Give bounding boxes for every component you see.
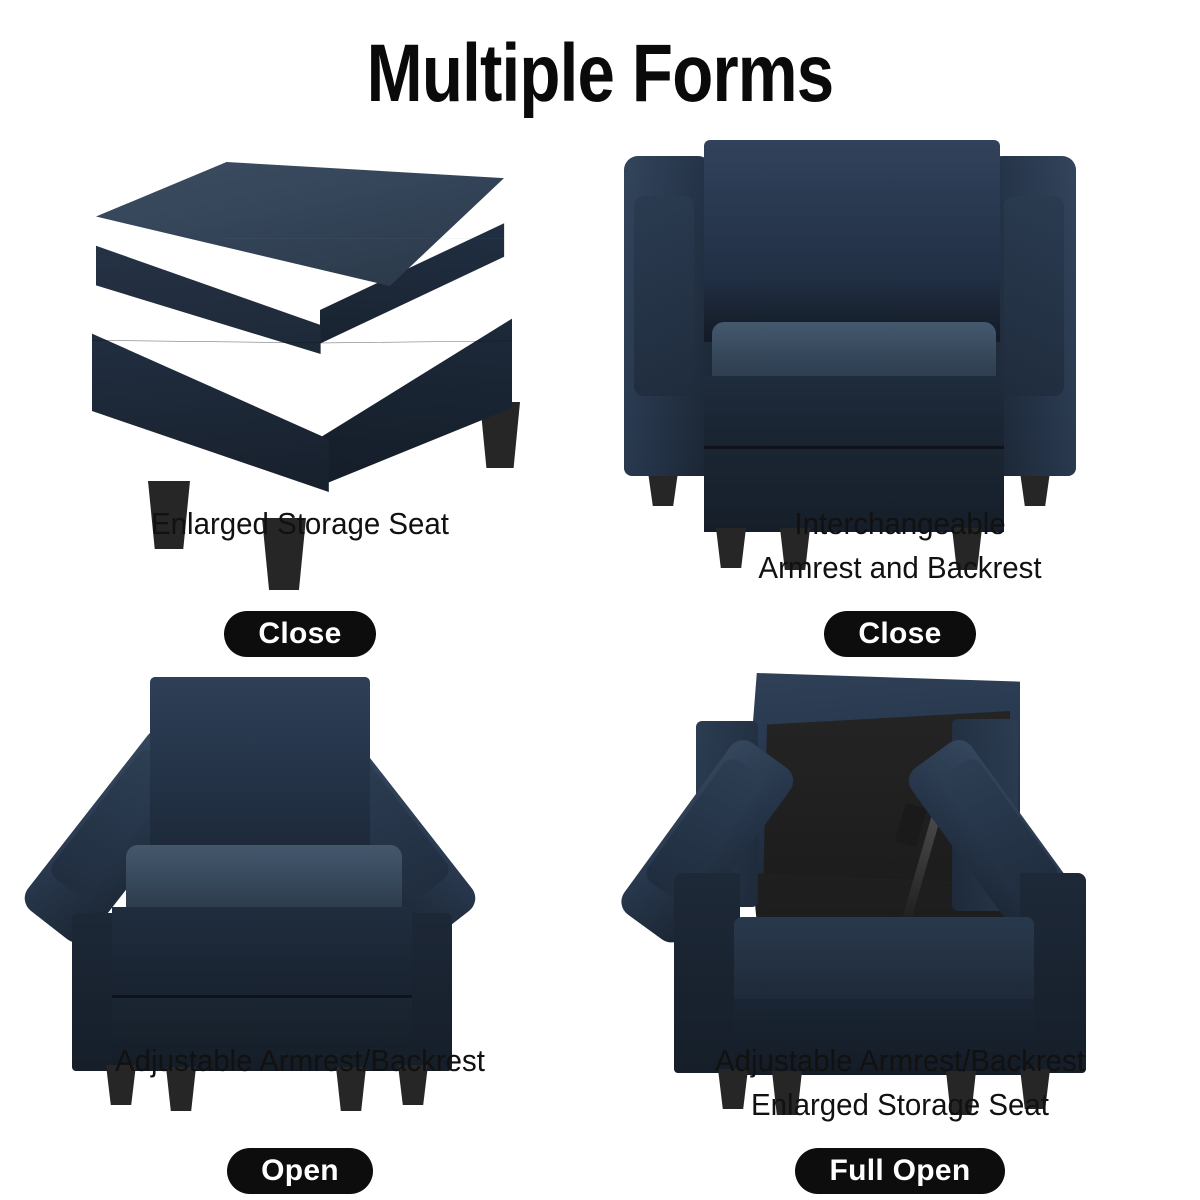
- feature-panel-adjustable-armrest-backrest: Adjustable Armrest/Backrest Open: [0, 663, 600, 1200]
- feature-panel-interchangeable-armrest-backrest: Interchangeable Armrest and Backrest Clo…: [600, 126, 1200, 663]
- product-image-armchair-arms-open: [0, 663, 600, 1038]
- status-badge-open[interactable]: Open: [227, 1148, 373, 1194]
- storage-front-wall: [734, 917, 1034, 1009]
- feature-panel-grid: Enlarged Storage Seat Close: [0, 126, 1200, 1200]
- product-image-armchair-full-open-storage: [600, 663, 1200, 1038]
- status-badge-full-open[interactable]: Full Open: [795, 1148, 1004, 1194]
- seat-base-body: [112, 907, 412, 1001]
- panel-caption: Enlarged Storage Seat: [15, 502, 585, 546]
- feature-panel-full-open-storage: Adjustable Armrest/Backrest Enlarged Sto…: [600, 663, 1200, 1200]
- armchair-closed-illustration: [600, 126, 1200, 501]
- ottoman-illustration: [0, 126, 600, 501]
- seat-base-body: [704, 376, 1004, 454]
- product-image-ottoman-closed: [0, 126, 600, 501]
- panel-badge-wrap: Full Open: [600, 1148, 1200, 1194]
- armchair-leg-far-left: [648, 472, 678, 506]
- page-title: Multiple Forms: [108, 26, 1092, 122]
- panel-badge-wrap: Close: [0, 611, 600, 657]
- status-badge-close[interactable]: Close: [224, 611, 375, 657]
- armrest-right-inner-panel: [1004, 196, 1064, 396]
- feature-panel-enlarged-storage-seat: Enlarged Storage Seat Close: [0, 126, 600, 663]
- panel-caption: Interchangeable Armrest and Backrest: [615, 502, 1185, 590]
- panel-badge-wrap: Open: [0, 1148, 600, 1194]
- storage-lid-seam: [704, 446, 1004, 449]
- status-badge-close[interactable]: Close: [824, 611, 975, 657]
- backrest-cushion: [150, 677, 370, 867]
- product-feature-infographic: Multiple Forms Enlarged Storage Seat: [0, 0, 1200, 1200]
- storage-lid-seam: [112, 995, 412, 998]
- armchair-open-illustration: [0, 663, 600, 1038]
- armrest-left-inner-panel: [634, 196, 694, 396]
- panel-badge-wrap: Close: [600, 611, 1200, 657]
- panel-caption: Adjustable Armrest/Backrest Enlarged Sto…: [615, 1039, 1185, 1127]
- armchair-leg-far-right: [1020, 472, 1050, 506]
- product-image-armchair-closed: [600, 126, 1200, 501]
- panel-caption: Adjustable Armrest/Backrest: [15, 1039, 585, 1083]
- armchair-full-open-illustration: [600, 663, 1200, 1038]
